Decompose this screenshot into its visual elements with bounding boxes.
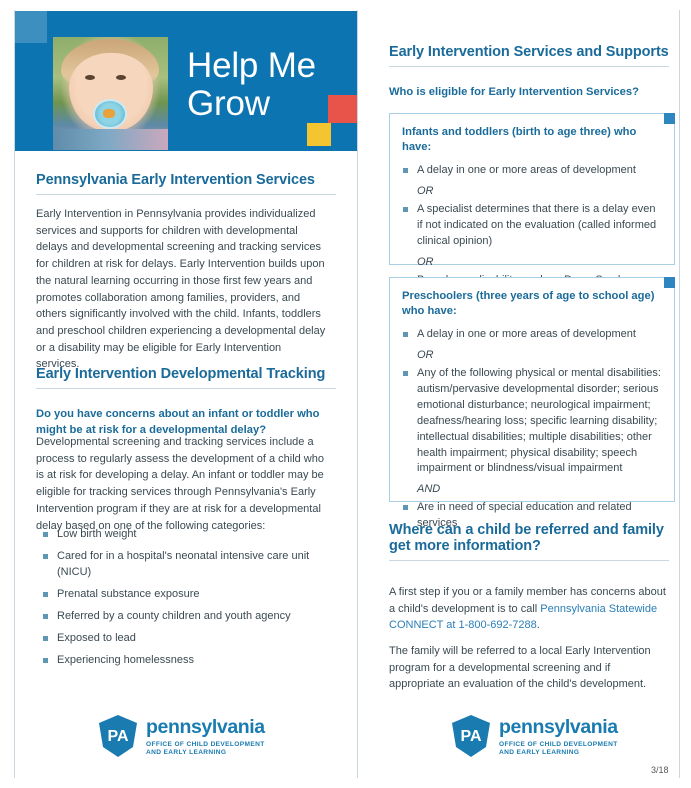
- list-item: A delay in one or more areas of developm…: [402, 163, 662, 179]
- header-banner: Help Me Grow: [15, 11, 357, 151]
- list-item: Cared for in a hospital's neonatal inten…: [42, 549, 342, 581]
- left-heading-services: Pennsylvania Early Intervention Services: [36, 172, 336, 195]
- callout-preschoolers-caption: Preschoolers (three years of age to scho…: [402, 289, 662, 320]
- list-item-label: Experiencing homelessness: [57, 654, 194, 666]
- square-bullet-icon: [403, 207, 408, 212]
- left-paragraph-overview: Early Intervention in Pennsylvania provi…: [36, 206, 326, 373]
- footer-logo-sub-2: and Early Learning: [146, 749, 265, 758]
- risk-categories-list: Low birth weight Cared for in a hospital…: [42, 527, 342, 675]
- connector-and: AND: [417, 483, 662, 495]
- list-item: Low birth weight: [42, 527, 342, 543]
- heading-rule: [389, 560, 669, 561]
- list-item-label: Cared for in a hospital's neonatal inten…: [57, 550, 309, 578]
- list-item: Any of the following physical or mental …: [402, 366, 662, 478]
- connector-or: OR: [417, 256, 662, 268]
- photo-eye-left: [85, 75, 95, 80]
- callout-infants-toddlers: Infants and toddlers (birth to age three…: [389, 113, 675, 265]
- infants-criteria-list-2: A specialist determines that there is a …: [402, 202, 662, 250]
- right-heading-services-supports: Early Intervention Services and Supports: [389, 44, 669, 67]
- toddler-photo: [53, 37, 168, 150]
- square-bullet-icon: [43, 636, 48, 641]
- list-item-label: Prenatal substance exposure: [57, 588, 199, 600]
- preschoolers-criteria-list-2: Any of the following physical or mental …: [402, 366, 662, 478]
- footer-logo-word: pennsylvania: [499, 718, 618, 738]
- list-item-label: Referred by a county children and youth …: [57, 610, 291, 622]
- list-item-label: A delay in one or more areas of developm…: [417, 164, 636, 176]
- square-bullet-icon: [43, 614, 48, 619]
- list-item-label: Low birth weight: [57, 528, 137, 540]
- right-paragraph-referral: The family will be referred to a local E…: [389, 643, 667, 693]
- banner-red-square: [328, 95, 357, 123]
- footer-logo-left: PA pennsylvania Office of Child Developm…: [97, 714, 265, 758]
- infants-criteria-list: A delay in one or more areas of developm…: [402, 163, 662, 179]
- pa-keystone-icon: PA: [450, 714, 492, 758]
- svg-text:PA: PA: [107, 728, 128, 745]
- photo-shirt: [53, 129, 168, 150]
- banner-corner-accent: [15, 11, 47, 43]
- right-question-eligible: Who is eligible for Early Intervention S…: [389, 84, 669, 100]
- photo-pacifier: [93, 99, 127, 129]
- left-heading-tracking-label: Early Intervention Developmental Trackin…: [36, 366, 336, 382]
- square-bullet-icon: [43, 554, 48, 559]
- callout-infants-caption: Infants and toddlers (birth to age three…: [402, 125, 662, 156]
- square-bullet-icon: [43, 532, 48, 537]
- square-bullet-icon: [403, 371, 408, 376]
- square-bullet-icon: [403, 168, 408, 173]
- connector-or: OR: [417, 349, 662, 361]
- heading-rule: [36, 194, 336, 195]
- photo-eye-right: [116, 75, 126, 80]
- banner-yellow-square: [307, 123, 331, 146]
- list-item-label: Exposed to lead: [57, 632, 136, 644]
- callout-corner-tab: [664, 277, 675, 288]
- banner-title-line2: Grow: [187, 85, 337, 123]
- left-heading-services-label: Pennsylvania Early Intervention Services: [36, 172, 336, 188]
- list-item-label: A specialist determines that there is a …: [417, 203, 656, 247]
- footer-logo-sub-1: Office of Child Development: [146, 741, 265, 750]
- list-item-label: Any of the following physical or mental …: [417, 367, 661, 475]
- footer-logo-sub-1: Office of Child Development: [499, 741, 618, 750]
- footer-logo-right: PA pennsylvania Office of Child Developm…: [450, 714, 618, 758]
- preschoolers-criteria-list: A delay in one or more areas of developm…: [402, 327, 662, 343]
- first-step-text-post: .: [537, 619, 540, 631]
- square-bullet-icon: [43, 658, 48, 663]
- footer-logo-sub-2: and Early Learning: [499, 749, 618, 758]
- svg-text:PA: PA: [460, 728, 481, 745]
- right-paragraph-first-step: A first step if you or a family member h…: [389, 584, 667, 634]
- banner-title-line1: Help Me: [187, 47, 337, 85]
- list-item: A specialist determines that there is a …: [402, 202, 662, 250]
- banner-title: Help Me Grow: [187, 47, 337, 123]
- left-paragraph-tracking: Developmental screening and tracking ser…: [36, 434, 328, 534]
- connector-or: OR: [417, 185, 662, 197]
- square-bullet-icon: [43, 592, 48, 597]
- left-heading-tracking: Early Intervention Developmental Trackin…: [36, 366, 336, 389]
- square-bullet-icon: [403, 332, 408, 337]
- callout-preschoolers: Preschoolers (three years of age to scho…: [389, 277, 675, 502]
- list-item: Exposed to lead: [42, 631, 342, 647]
- page-number: 3/18: [651, 765, 669, 775]
- footer-logo-text: pennsylvania Office of Child Development…: [146, 714, 265, 758]
- heading-rule: [389, 66, 669, 67]
- list-item: Prenatal substance exposure: [42, 587, 342, 603]
- footer-logo-text: pennsylvania Office of Child Development…: [499, 714, 618, 758]
- right-heading-referral-label: Where can a child be referred and family…: [389, 522, 669, 554]
- heading-rule: [36, 388, 336, 389]
- right-heading-referral: Where can a child be referred and family…: [389, 522, 669, 561]
- callout-corner-tab: [664, 113, 675, 124]
- list-item: Experiencing homelessness: [42, 653, 342, 669]
- list-item-label: A delay in one or more areas of developm…: [417, 328, 636, 340]
- list-item: Referred by a county children and youth …: [42, 609, 342, 625]
- list-item: A delay in one or more areas of developm…: [402, 327, 662, 343]
- brochure-page: Help Me Grow Pennsylvania Early Interven…: [0, 0, 691, 788]
- pa-keystone-icon: PA: [97, 714, 139, 758]
- footer-logo-word: pennsylvania: [146, 718, 265, 738]
- right-heading-services-supports-label: Early Intervention Services and Supports: [389, 44, 669, 60]
- square-bullet-icon: [403, 505, 408, 510]
